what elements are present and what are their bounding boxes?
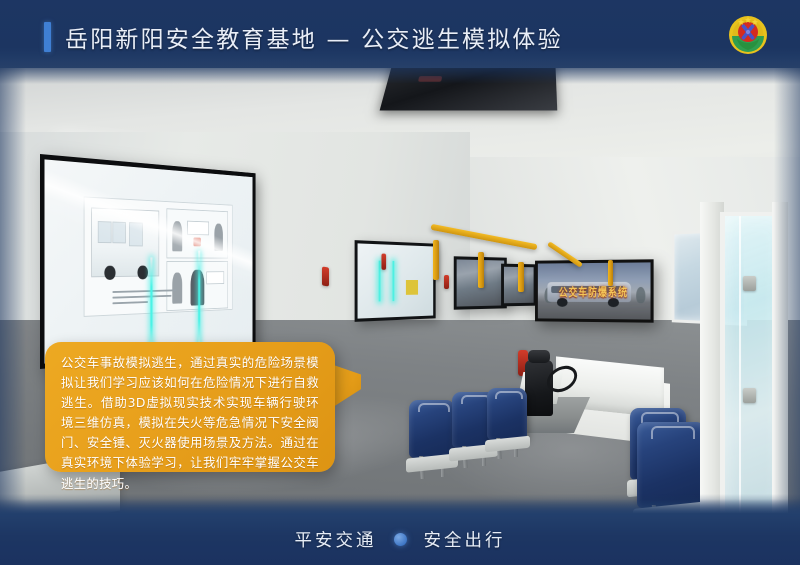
footer-separator-dot [394,533,407,546]
page-title: 岳阳新阳安全教育基地 — 公交逃生模拟体验 [65,20,563,54]
grab-pole-vertical [608,260,613,286]
screen-glow-accent [150,258,152,355]
diagram-caption [112,290,179,309]
header-bar: 岳阳新阳安全教育基地 — 公交逃生模拟体验 [0,0,800,68]
slide-root: 公交车防爆系统 [0,0,800,565]
footer-slogan-group: 平安交通 安全出行 [295,527,506,552]
safety-hammer-marker [322,267,329,287]
passenger-seat [487,388,527,440]
photo-left-fade [0,62,26,520]
driver-seat-headrest [528,350,550,363]
tv-caption: 公交车防爆系统 [538,284,651,301]
description-callout: 公交车事故模拟逃生，通过真实的危险场景模拟让我们学习应该如何在危险情况下进行自救… [45,342,335,472]
safety-hammer-marker [444,275,449,289]
wall-display-medium[interactable] [355,240,436,322]
header-accent-bar [44,22,51,52]
wall-display-large-surface [45,159,253,363]
tv-display[interactable]: 公交车防爆系统 [535,259,654,322]
grab-pole-vertical [478,252,484,288]
grab-pole-vertical [518,262,524,292]
footer-bar: 平安交通 安全出行 [0,513,800,565]
passenger-seat [409,400,455,458]
diagram-bus-illustration [91,207,159,277]
door-hinge [743,388,756,403]
screen-glow-accent [198,251,200,351]
escape-diagram [83,196,232,316]
tv-screen: 公交车防爆系统 [538,262,651,319]
door-hinge [743,276,756,291]
photo-right-fade [774,62,800,520]
header-title-group: 岳阳新阳安全教育基地 — 公交逃生模拟体验 [44,20,563,54]
grab-pole-vertical [433,240,439,280]
footer-slogan-right: 安全出行 [424,527,506,552]
traffic-police-emblem [724,10,772,58]
callout-text: 公交车事故模拟逃生，通过真实的危险场景模拟让我们学习应该如何在危险情况下进行自救… [61,353,319,494]
wall-display-large[interactable] [40,154,256,369]
footer-slogan-left: 平安交通 [295,527,377,552]
